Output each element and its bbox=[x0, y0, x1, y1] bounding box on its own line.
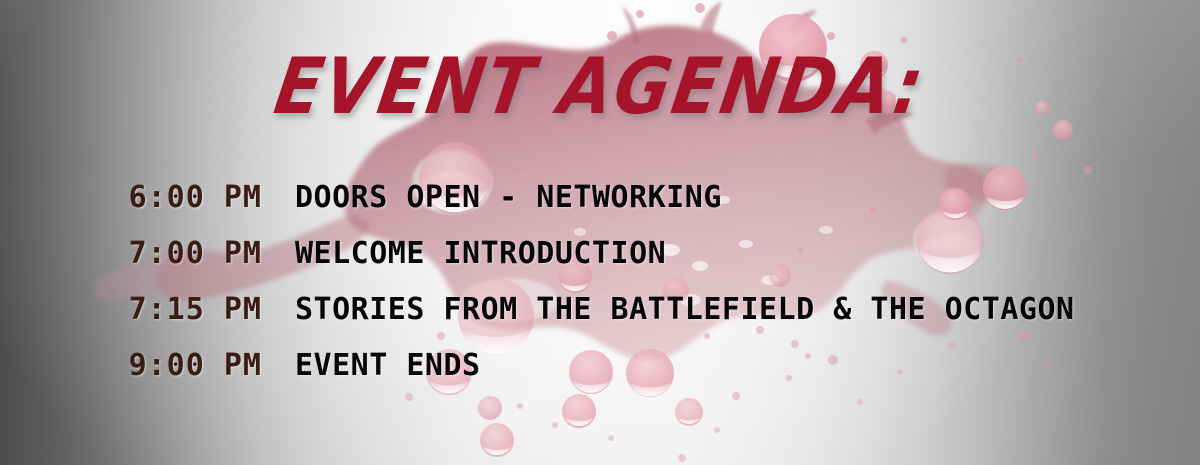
agenda-list: 6:00 PM DOORS OPEN - NETWORKING 7:00 PM … bbox=[0, 178, 1200, 402]
agenda-description: DOORS OPEN - NETWORKING bbox=[295, 178, 722, 218]
agenda-time: 6:00 PM bbox=[0, 178, 262, 218]
agenda-row: 7:15 PM STORIES FROM THE BATTLEFIELD & T… bbox=[0, 290, 1200, 330]
agenda-time: 9:00 PM bbox=[0, 346, 262, 386]
agenda-row: 7:00 PM WELCOME INTRODUCTION bbox=[0, 234, 1200, 274]
agenda-time: 7:15 PM bbox=[0, 290, 262, 330]
droplet bbox=[675, 398, 703, 426]
droplet bbox=[480, 423, 514, 457]
agenda-row: 6:00 PM DOORS OPEN - NETWORKING bbox=[0, 178, 1200, 218]
agenda-description: WELCOME INTRODUCTION bbox=[295, 234, 666, 274]
agenda-description: EVENT ENDS bbox=[295, 346, 481, 386]
title-container: EVENT AGENDA: bbox=[0, 48, 1200, 127]
agenda-time: 7:00 PM bbox=[0, 234, 262, 274]
agenda-row: 9:00 PM EVENT ENDS bbox=[0, 346, 1200, 386]
page-title: EVENT AGENDA: bbox=[269, 42, 931, 132]
agenda-description: STORIES FROM THE BATTLEFIELD & THE OCTAG… bbox=[295, 290, 1075, 330]
event-agenda-poster: EVENT AGENDA: 6:00 PM DOORS OPEN - NETWO… bbox=[0, 0, 1200, 465]
